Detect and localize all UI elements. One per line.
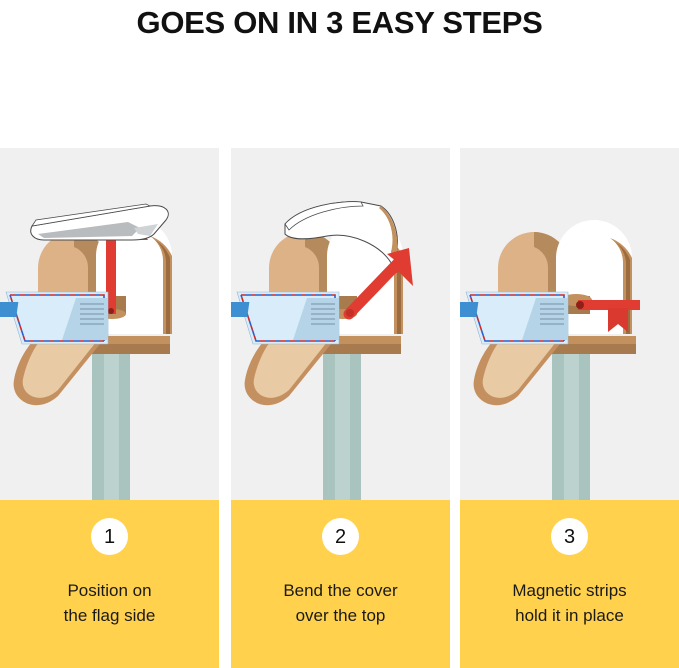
- magnetic-cover-sheet: [31, 204, 169, 240]
- steps-panel-row: 1 Position on the flag side: [0, 148, 679, 668]
- step-3-illustration: [460, 148, 679, 500]
- envelope: [0, 292, 108, 344]
- step-2-caption-text: Bend the cover over the top: [275, 578, 405, 628]
- step-3-caption-text: Magnetic strips hold it in place: [504, 578, 634, 628]
- step-number-badge-1: 1: [91, 518, 128, 555]
- mailbox-illustration-1: [0, 148, 219, 500]
- step-1-caption-line2: the flag side: [64, 603, 156, 628]
- step-number-badge-3: 3: [551, 518, 588, 555]
- page-title-text: GOES ON IN 3 EASY STEPS: [137, 4, 543, 42]
- step-3-caption-line1: Magnetic strips: [512, 578, 626, 603]
- step-1-caption-line1: Position on: [64, 578, 156, 603]
- mailbox-open-door: [245, 334, 331, 405]
- step-2-caption: 2 Bend the cover over the top: [231, 500, 450, 668]
- step-number-1: 1: [104, 527, 115, 547]
- mailbox-post: [552, 346, 590, 500]
- mailbox-open-door: [14, 334, 100, 405]
- step-panel-1: 1 Position on the flag side: [0, 148, 219, 668]
- step-2-illustration: [231, 148, 450, 500]
- step-number-3: 3: [564, 527, 575, 547]
- envelope: [460, 292, 568, 344]
- step-2-caption-line1: Bend the cover: [283, 578, 397, 603]
- mailbox-post: [323, 346, 361, 500]
- infographic-page: GOES ON IN 3 EASY STEPS: [0, 0, 679, 668]
- mailbox-illustration-3: [460, 148, 679, 500]
- mailbox-open-door: [474, 334, 560, 405]
- step-1-caption: 1 Position on the flag side: [0, 500, 219, 668]
- step-panel-3: 3 Magnetic strips hold it in place: [460, 148, 679, 668]
- mailbox-illustration-2: [231, 148, 450, 500]
- envelope: [231, 292, 339, 344]
- step-1-caption-text: Position on the flag side: [56, 578, 164, 628]
- step-2-caption-line2: over the top: [283, 603, 397, 628]
- page-title: GOES ON IN 3 EASY STEPS: [0, 0, 679, 148]
- step-3-caption-line2: hold it in place: [512, 603, 626, 628]
- step-number-2: 2: [335, 527, 346, 547]
- step-panel-2: 2 Bend the cover over the top: [231, 148, 450, 668]
- step-number-badge-2: 2: [322, 518, 359, 555]
- mailbox-post: [92, 346, 130, 500]
- step-3-caption: 3 Magnetic strips hold it in place: [460, 500, 679, 668]
- step-1-illustration: [0, 148, 219, 500]
